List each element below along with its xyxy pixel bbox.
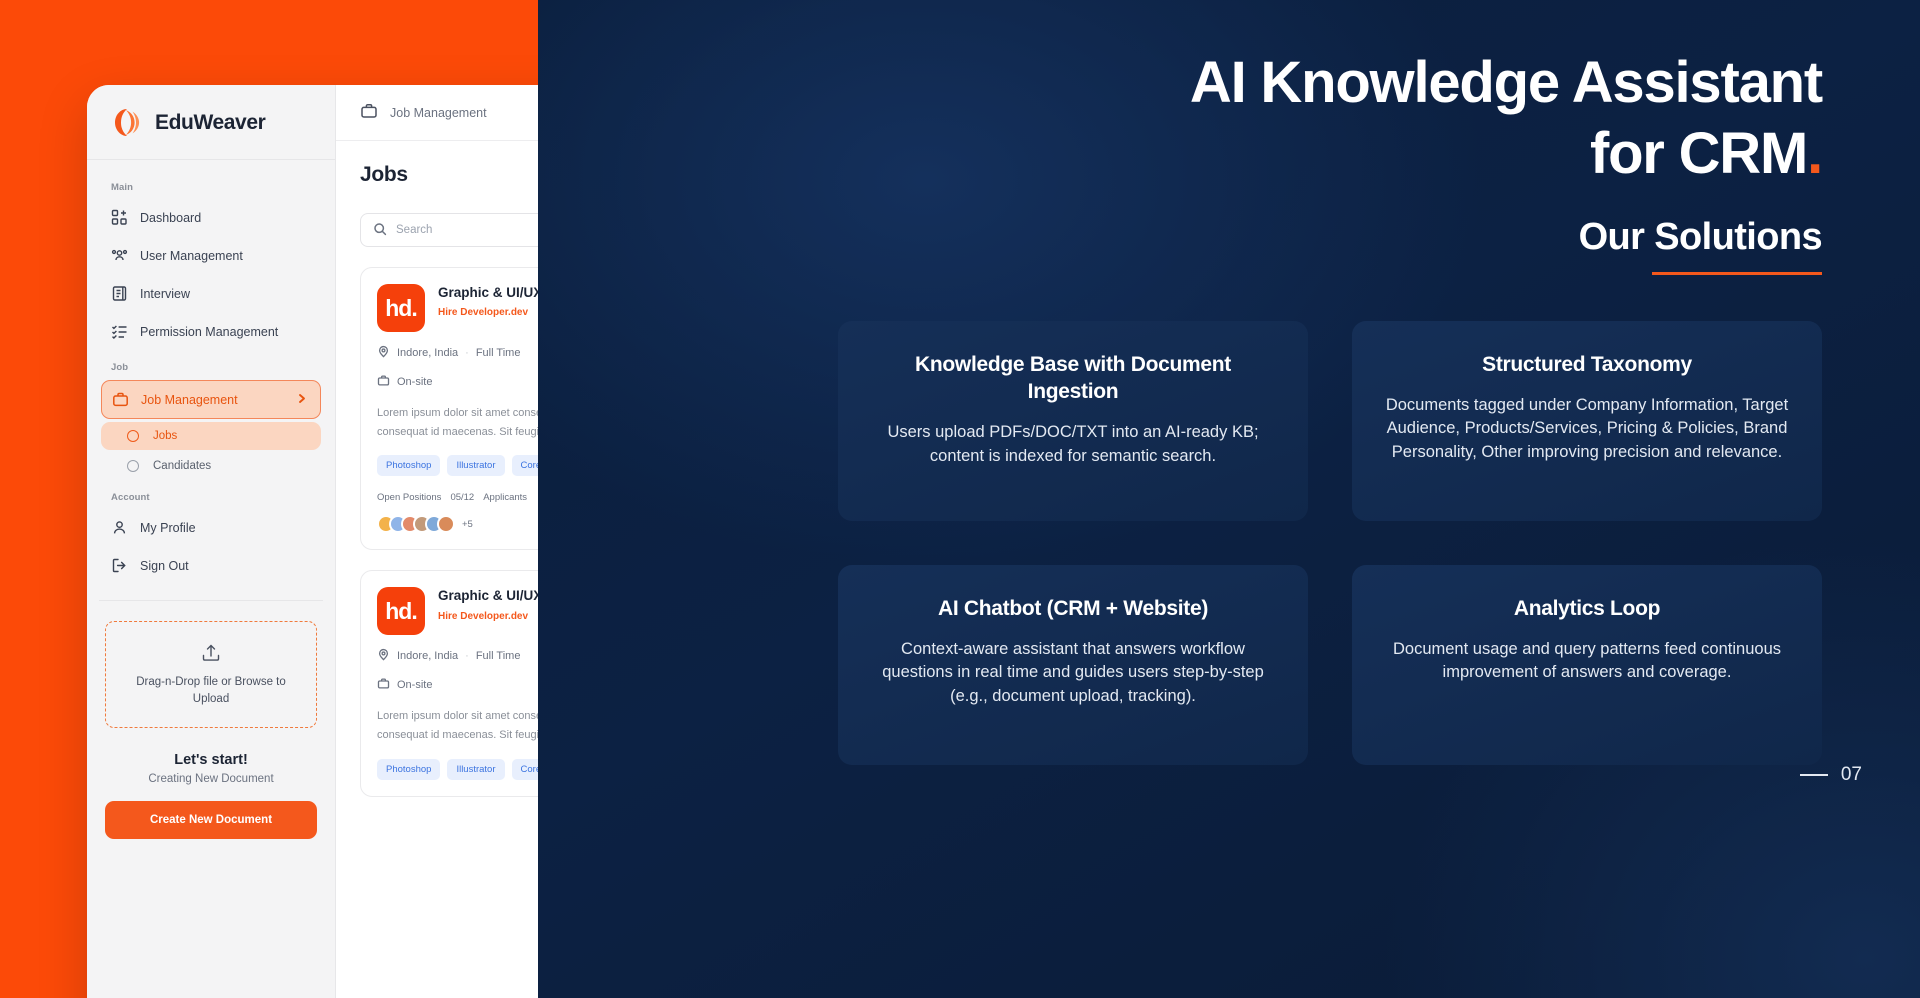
job-company: Hire Developer.dev bbox=[438, 611, 538, 622]
cta-subtitle: Creating New Document bbox=[105, 773, 317, 785]
users-icon bbox=[111, 247, 128, 264]
job-description: Lorem ipsum dolor sit amet consectetur. … bbox=[377, 404, 538, 441]
sidebar-subitem-candidates[interactable]: Candidates bbox=[101, 452, 321, 480]
breadcrumb: Job Management bbox=[390, 106, 487, 120]
dropzone-label: Drag-n-Drop file or Browse to Upload bbox=[136, 676, 286, 705]
briefcase-icon bbox=[377, 677, 390, 693]
app-sidebar: EduWeaver Main Dashboa bbox=[87, 85, 336, 998]
solution-card-title: Structured Taxonomy bbox=[1382, 351, 1792, 378]
nav-group-label-account: Account bbox=[101, 482, 321, 510]
brand-name: EduWeaver bbox=[155, 111, 265, 135]
sidebar-item-user-management[interactable]: User Management bbox=[101, 238, 321, 273]
job-tag[interactable]: Illustrator bbox=[447, 455, 504, 476]
briefcase-icon bbox=[360, 102, 378, 123]
briefcase-icon bbox=[377, 374, 390, 390]
page-title: Jobs bbox=[360, 163, 538, 187]
job-title: Graphic & UI/UX Designer bbox=[438, 587, 538, 605]
location-pin-icon bbox=[377, 345, 390, 361]
open-positions-label: Open Positions bbox=[377, 492, 441, 503]
job-tag[interactable]: Core Draw bbox=[512, 759, 538, 780]
job-meta-location: Indore, India · Full Time bbox=[377, 345, 538, 361]
orange-backdrop: EduWeaver Main Dashboa bbox=[0, 0, 538, 998]
sidebar-item-job-management[interactable]: Job Management bbox=[101, 380, 321, 419]
solution-card-body: Context-aware assistant that answers wor… bbox=[868, 638, 1278, 708]
sign-out-icon bbox=[111, 557, 128, 574]
app-main-content: Job Management Jobs Search bbox=[336, 85, 538, 998]
headline-line-1: AI Knowledge Assistant bbox=[538, 48, 1822, 119]
nav-group-label-main: Main bbox=[101, 172, 321, 200]
sidebar-item-label: Dashboard bbox=[140, 211, 201, 225]
dashboard-grid-icon bbox=[111, 209, 128, 226]
sidebar-item-sign-out[interactable]: Sign Out bbox=[101, 548, 321, 583]
solution-card-title: Knowledge Base with Document Ingestion bbox=[868, 351, 1278, 406]
meta-separator: · bbox=[465, 347, 469, 359]
solution-card-body: Document usage and query patterns feed c… bbox=[1382, 638, 1792, 685]
job-work-mode: On-site bbox=[397, 376, 432, 388]
slide-page-number: 07 bbox=[1800, 764, 1862, 786]
search-input[interactable]: Search bbox=[360, 213, 538, 247]
app-window-mockup: EduWeaver Main Dashboa bbox=[87, 85, 538, 998]
job-meta-workmode: On-site bbox=[377, 677, 538, 693]
job-tag[interactable]: Photoshop bbox=[377, 759, 440, 780]
sidebar-item-dashboard[interactable]: Dashboard bbox=[101, 200, 321, 235]
job-employment-type: Full Time bbox=[476, 347, 521, 359]
open-positions-value: 05/12 bbox=[450, 492, 474, 503]
sidebar-divider bbox=[99, 600, 323, 601]
headline-line-2: for CRM. bbox=[538, 119, 1822, 190]
checklist-icon bbox=[111, 323, 128, 340]
job-company: Hire Developer.dev bbox=[438, 307, 538, 318]
search-placeholder: Search bbox=[396, 224, 432, 236]
job-tag[interactable]: Photoshop bbox=[377, 455, 440, 476]
page-number-value: 07 bbox=[1841, 764, 1862, 786]
sidebar-subitem-label: Jobs bbox=[153, 430, 177, 442]
section-heading: Our Solutions bbox=[1579, 216, 1822, 259]
eduweaver-logo-icon bbox=[111, 106, 144, 139]
sidebar-subitem-jobs[interactable]: Jobs bbox=[101, 422, 321, 450]
sidebar-item-my-profile[interactable]: My Profile bbox=[101, 510, 321, 545]
sidebar-item-label: Interview bbox=[140, 287, 190, 301]
job-card[interactable]: hd. Graphic & UI/UX Designer Hire Develo… bbox=[360, 570, 538, 796]
chevron-right-icon bbox=[296, 392, 308, 407]
nav-group-label-job: Job bbox=[101, 352, 321, 380]
sidebar-nav: Main Dashboard bbox=[87, 160, 335, 586]
sidebar-item-permission-management[interactable]: Permission Management bbox=[101, 314, 321, 349]
cta-title: Let's start! bbox=[105, 752, 317, 768]
create-new-document-button[interactable]: Create New Document bbox=[105, 801, 317, 839]
job-location: Indore, India bbox=[397, 347, 458, 359]
meta-separator: · bbox=[465, 650, 469, 662]
slide-canvas: EduWeaver Main Dashboa bbox=[0, 0, 1920, 998]
sidebar-item-label: User Management bbox=[140, 249, 243, 263]
job-work-mode: On-site bbox=[397, 679, 432, 691]
solution-card: AI Chatbot (CRM + Website) Context-aware… bbox=[838, 565, 1308, 765]
app-topbar: Job Management bbox=[336, 85, 538, 141]
sidebar-item-interview[interactable]: Interview bbox=[101, 276, 321, 311]
job-title: Graphic & UI/UX Designer bbox=[438, 284, 538, 302]
job-location: Indore, India bbox=[397, 650, 458, 662]
avatar-overflow-count: +5 bbox=[462, 519, 473, 530]
solution-card-title: Analytics Loop bbox=[1382, 595, 1792, 622]
company-logo: hd. bbox=[377, 284, 425, 332]
applicant-avatars: +5 bbox=[377, 515, 538, 533]
job-card-header: hd. Graphic & UI/UX Designer Hire Develo… bbox=[377, 284, 538, 332]
job-meta-location: Indore, India · Full Time bbox=[377, 648, 538, 664]
presentation-slide: AI Knowledge Assistant for CRM. Our Solu… bbox=[538, 0, 1920, 998]
slide-headline: AI Knowledge Assistant for CRM. bbox=[538, 0, 1920, 190]
accent-period: . bbox=[1807, 121, 1822, 186]
document-list-icon bbox=[111, 285, 128, 302]
job-description: Lorem ipsum dolor sit amet consectetur. … bbox=[377, 707, 538, 744]
solution-card: Knowledge Base with Document Ingestion U… bbox=[838, 321, 1308, 521]
applicants-label: Applicants bbox=[483, 492, 527, 503]
job-card[interactable]: hd. Graphic & UI/UX Designer Hire Develo… bbox=[360, 267, 538, 550]
solution-card: Structured Taxonomy Documents tagged und… bbox=[1352, 321, 1822, 521]
job-tag[interactable]: Core Draw bbox=[512, 455, 538, 476]
job-open-positions: Open Positions 05/12 Applicants bbox=[377, 492, 538, 503]
location-pin-icon bbox=[377, 648, 390, 664]
job-meta-workmode: On-site bbox=[377, 374, 538, 390]
briefcase-icon bbox=[112, 391, 129, 408]
job-tags: Photoshop Illustrator Core Draw bbox=[377, 455, 538, 476]
sidebar-cta: Let's start! Creating New Document Creat… bbox=[87, 752, 335, 839]
job-tags: Photoshop Illustrator Core Draw bbox=[377, 759, 538, 780]
job-tag[interactable]: Illustrator bbox=[447, 759, 504, 780]
file-dropzone[interactable]: Drag-n-Drop file or Browse to Upload bbox=[105, 621, 317, 728]
solution-card-title: AI Chatbot (CRM + Website) bbox=[868, 595, 1278, 622]
solution-card-body: Users upload PDFs/DOC/TXT into an AI-rea… bbox=[868, 421, 1278, 468]
sidebar-item-label: Job Management bbox=[141, 393, 238, 407]
upload-icon bbox=[118, 642, 304, 664]
solution-card-body: Documents tagged under Company Informati… bbox=[1382, 394, 1792, 464]
sidebar-item-label: My Profile bbox=[140, 521, 196, 535]
sidebar-item-label: Sign Out bbox=[140, 559, 189, 573]
solutions-grid: Knowledge Base with Document Ingestion U… bbox=[538, 275, 1920, 765]
job-card-header: hd. Graphic & UI/UX Designer Hire Develo… bbox=[377, 587, 538, 635]
solution-card: Analytics Loop Document usage and query … bbox=[1352, 565, 1822, 765]
job-employment-type: Full Time bbox=[476, 650, 521, 662]
app-body: Jobs Search hd. bbox=[336, 141, 538, 797]
sidebar-item-label: Permission Management bbox=[140, 325, 278, 339]
user-icon bbox=[111, 519, 128, 536]
sidebar-subitem-label: Candidates bbox=[153, 460, 211, 472]
avatar bbox=[437, 515, 455, 533]
radio-icon bbox=[127, 460, 139, 472]
section-heading-wrap: Our Solutions bbox=[538, 190, 1920, 275]
brand-header: EduWeaver bbox=[87, 85, 335, 160]
search-icon bbox=[373, 222, 387, 239]
page-number-rule bbox=[1800, 774, 1828, 776]
company-logo: hd. bbox=[377, 587, 425, 635]
radio-icon bbox=[127, 430, 139, 442]
